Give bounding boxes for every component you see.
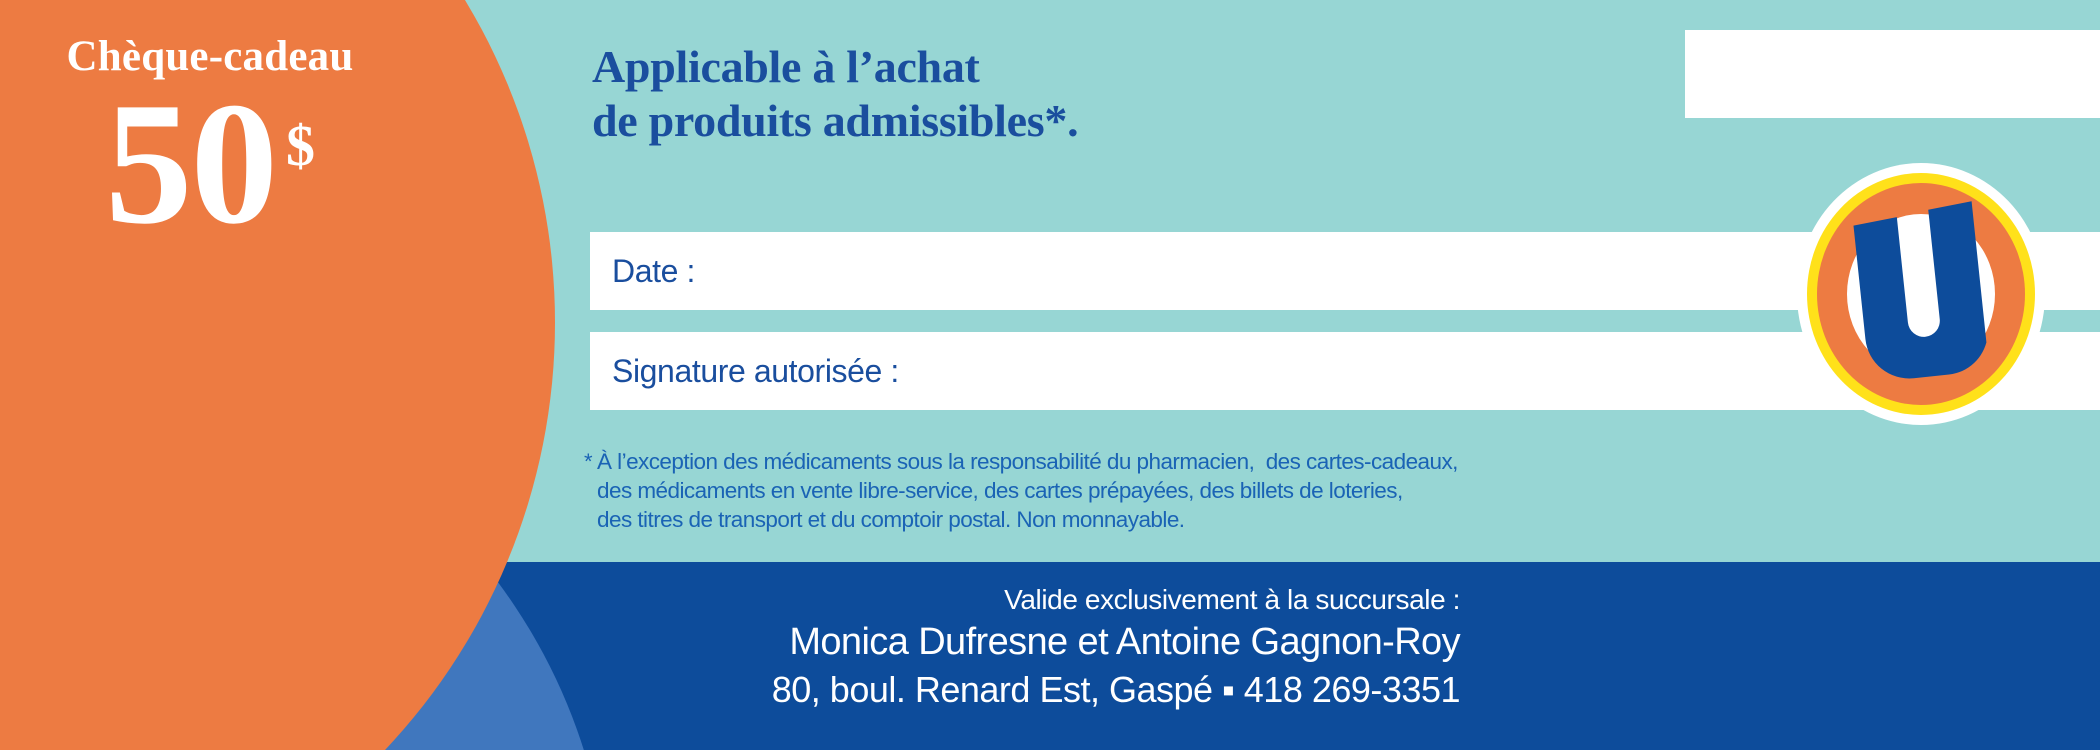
amount-value: 50	[105, 83, 276, 244]
date-label: Date :	[612, 253, 695, 290]
top-right-blank-box[interactable]	[1685, 30, 2100, 118]
headline-line-1: Applicable à l’achat	[592, 40, 1078, 94]
disclaimer-line-3: des titres de transport et du comptoir p…	[597, 506, 1458, 535]
amount-block: Chèque-cadeau 50 $	[0, 0, 420, 330]
signature-label: Signature autorisée :	[612, 353, 899, 390]
disclaimer-line-1: À l’exception des médicaments sous la re…	[597, 448, 1458, 477]
disclaimer-line-2: des médicaments en vente libre-service, …	[597, 477, 1458, 506]
store-address-phone: 80, boul. Renard Est, Gaspé ▪ 418 269-33…	[772, 669, 1460, 711]
headline-line-2: de produits admissibles*.	[592, 94, 1078, 148]
currency-symbol: $	[286, 117, 315, 175]
disclaimer-asterisk: *	[584, 448, 592, 534]
disclaimer: * À l’exception des médicaments sous la …	[584, 448, 1458, 534]
store-info: Valide exclusivement à la succursale : M…	[772, 584, 1460, 711]
validity-note: Valide exclusivement à la succursale :	[772, 584, 1460, 616]
gift-certificate: Chèque-cadeau 50 $ Applicable à l’achat …	[0, 0, 2100, 750]
headline: Applicable à l’achat de produits admissi…	[592, 40, 1078, 149]
uniprix-u-logo	[1797, 163, 2045, 425]
amount-row: 50 $	[0, 83, 420, 244]
store-owners: Monica Dufresne et Antoine Gagnon-Roy	[772, 621, 1460, 664]
disclaimer-lines: À l’exception des médicaments sous la re…	[597, 448, 1458, 534]
